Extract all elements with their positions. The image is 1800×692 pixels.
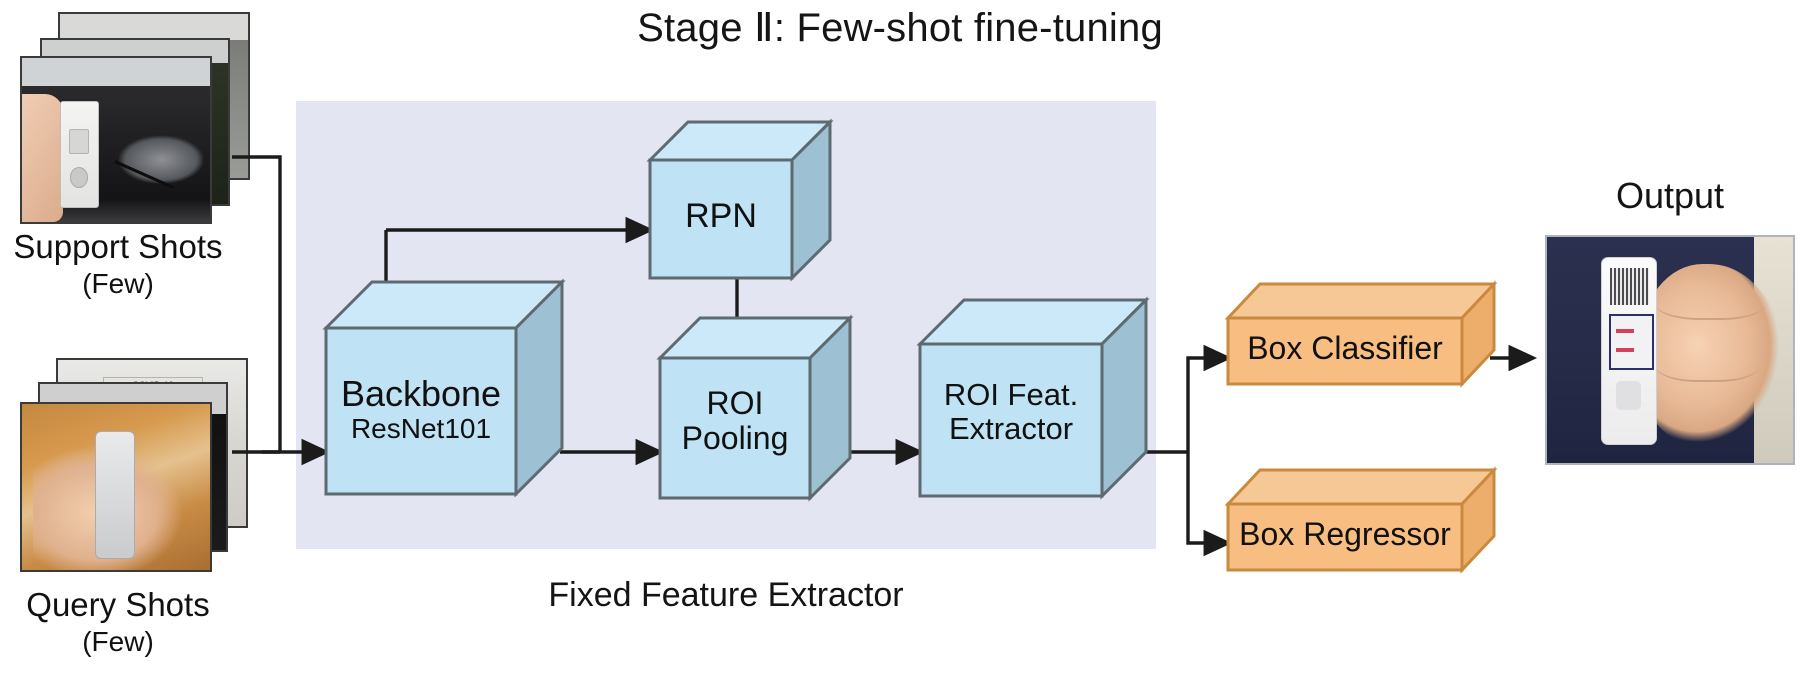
support-shots-stack: [0, 12, 260, 222]
arrow-to-box-regressor: [1188, 452, 1228, 543]
title-numeral: Ⅱ: [754, 5, 774, 50]
panel-caption: Fixed Feature Extractor: [296, 576, 1156, 615]
photo-hand: [22, 94, 63, 222]
block-box-classifier-label: Box Classifier: [1228, 330, 1462, 367]
block-box-regressor[interactable]: Box Regressor: [1228, 470, 1494, 580]
query-shots-sublabel: (Few): [0, 626, 248, 658]
block-box-classifier[interactable]: Box Classifier: [1228, 284, 1494, 394]
support-shots-sublabel: (Few): [0, 268, 248, 300]
output-test-kit: [1601, 257, 1657, 444]
block-backbone[interactable]: Backbone ResNet101: [326, 282, 562, 514]
support-photo-1: [20, 56, 212, 224]
arrow-to-box-classifier: [1188, 358, 1228, 452]
diagram-canvas: Stage Ⅱ: Few-shot fine-tuning Fixed Feat…: [0, 0, 1800, 692]
block-rpn[interactable]: RPN: [650, 122, 830, 282]
block-box-regressor-label: Box Regressor: [1228, 516, 1462, 553]
output-hand: [1640, 264, 1783, 445]
support-shots-label: Support Shots: [0, 228, 248, 266]
output-detection-box: [1609, 314, 1654, 370]
output-image: [1545, 235, 1795, 465]
test-line-control: [1616, 329, 1634, 333]
title-prefix: Stage: [637, 6, 754, 50]
output-label: Output: [1540, 175, 1800, 217]
photo-cable: [114, 160, 174, 189]
query-shots-label: Query Shots: [0, 586, 248, 624]
page-title: Stage Ⅱ: Few-shot fine-tuning: [0, 4, 1800, 51]
output-qr-code: [1610, 268, 1649, 305]
output-sample-well: [1616, 381, 1641, 411]
photo-test-kit: [60, 101, 100, 208]
block-roi-pooling[interactable]: ROI Pooling: [660, 318, 850, 514]
photo-test-kit: [95, 431, 135, 559]
query-photo-1: [20, 402, 212, 572]
query-shots-stack: COVID-19: [0, 358, 260, 573]
test-line-result: [1616, 348, 1634, 352]
title-suffix: : Few-shot fine-tuning: [774, 6, 1163, 50]
block-roi-feat-extractor[interactable]: ROI Feat. Extractor: [920, 300, 1146, 514]
